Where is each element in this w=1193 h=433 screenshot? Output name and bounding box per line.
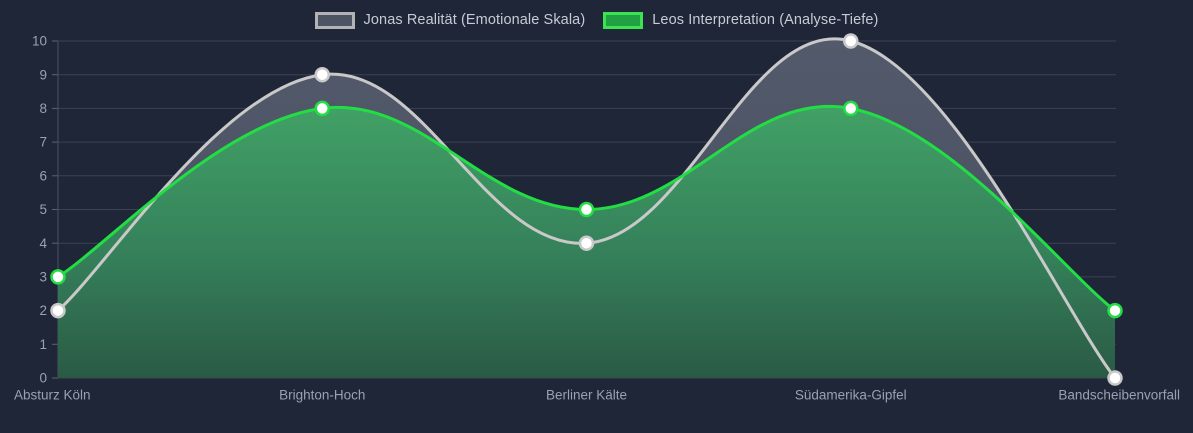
data-point-marker[interactable] [844, 102, 857, 115]
y-tick-label: 8 [39, 101, 47, 116]
plot-area: 012345678910 Absturz KölnBrighton-HochBe… [0, 0, 1193, 433]
data-point-marker[interactable] [316, 102, 329, 115]
data-point-marker[interactable] [580, 203, 593, 216]
data-point-marker[interactable] [52, 304, 65, 317]
y-tick-label: 10 [32, 34, 47, 49]
y-tick-label: 7 [39, 135, 47, 150]
chart-container: Jonas Realität (Emotionale Skala) Leos I… [0, 0, 1193, 433]
data-point-marker[interactable] [52, 270, 65, 283]
x-tick-label: Südamerika-Gipfel [795, 388, 907, 403]
y-tick-label: 0 [39, 371, 47, 386]
data-point-marker[interactable] [844, 35, 857, 48]
y-tick-label: 9 [39, 67, 47, 82]
data-point-marker[interactable] [1109, 372, 1122, 385]
data-point-marker[interactable] [1109, 304, 1122, 317]
x-tick-label: Bandscheibenvorfall [1058, 388, 1180, 403]
y-tick-label: 3 [39, 269, 47, 284]
data-point-marker[interactable] [316, 68, 329, 81]
y-tick-label: 4 [39, 236, 47, 251]
x-axis-tick-labels: Absturz KölnBrighton-HochBerliner KälteS… [14, 388, 1180, 403]
y-tick-label: 1 [39, 337, 47, 352]
data-point-marker[interactable] [580, 237, 593, 250]
y-tick-label: 6 [39, 168, 47, 183]
x-tick-label: Brighton-Hoch [279, 388, 365, 403]
chart-svg: 012345678910 Absturz KölnBrighton-HochBe… [0, 0, 1193, 433]
x-tick-label: Absturz Köln [14, 388, 91, 403]
y-tick-label: 5 [39, 202, 47, 217]
x-tick-label: Berliner Kälte [546, 388, 627, 403]
y-tick-label: 2 [39, 303, 47, 318]
y-axis-tick-labels: 012345678910 [32, 34, 48, 386]
